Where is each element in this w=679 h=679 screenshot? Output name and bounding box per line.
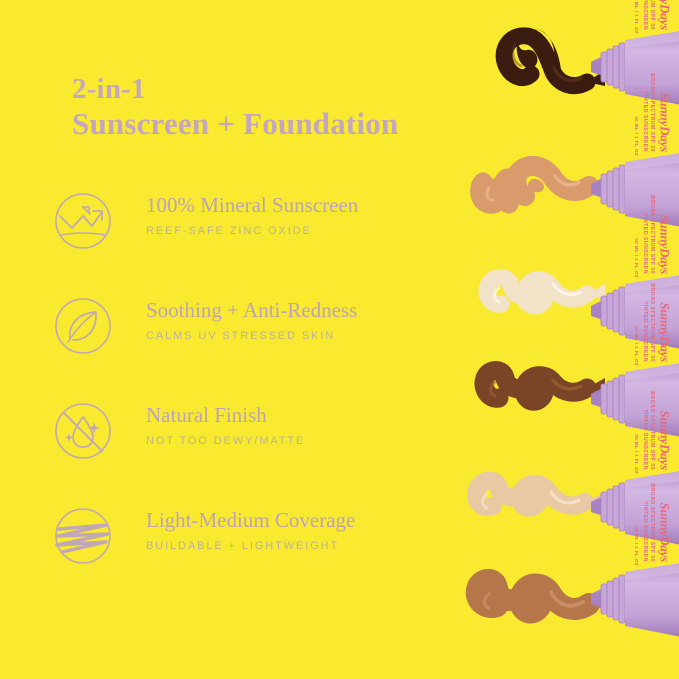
product-tube (589, 548, 679, 652)
product-unit-warm-caramel: SunnyDays BROAD SPECTRUM SPF 30 TINTED S… (455, 540, 679, 658)
feature-item-natural-finish: Natural Finish NOT TOO DEWY/MATTE (48, 396, 468, 501)
product-tube (589, 16, 679, 120)
feature-text-block: Natural Finish NOT TOO DEWY/MATTE (146, 402, 476, 449)
shade-swatch-espresso (455, 8, 605, 126)
feature-item-mineral-sunscreen: 100% Mineral Sunscreen REEF-SAFE ZINC OX… (48, 186, 468, 291)
feature-title: Light-Medium Coverage (146, 507, 476, 533)
headline-line-2: Sunscreen + Foundation (72, 106, 492, 143)
feature-title: Natural Finish (146, 402, 476, 428)
shade-swatch-warm-caramel (455, 540, 605, 658)
leaf-icon (52, 295, 114, 357)
product-unit-deep-brown: SunnyDays BROAD SPECTRUM SPF 30 TINTED S… (455, 340, 679, 458)
product-tube (589, 138, 679, 242)
uv-deflect-icon (52, 190, 114, 252)
feature-list: 100% Mineral Sunscreen REEF-SAFE ZINC OX… (48, 186, 468, 606)
shade-swatch-medium-tan (455, 130, 605, 248)
headline-line-1: 2-in-1 (72, 72, 492, 106)
feature-text-block: Light-Medium Coverage BUILDABLE + LIGHTW… (146, 507, 476, 554)
coverage-swatch-icon (52, 505, 114, 567)
product-unit-espresso: SunnyDays BROAD SPECTRUM SPF 30 TINTED S… (455, 8, 679, 126)
feature-item-soothing: Soothing + Anti-Redness CALMS UV STRESSE… (48, 291, 468, 396)
feature-text-block: Soothing + Anti-Redness CALMS UV STRESSE… (146, 297, 476, 344)
product-tube (589, 348, 679, 452)
product-tube-column: SunnyDays BROAD SPECTRUM SPF 30 TINTED S… (455, 0, 679, 679)
feature-item-coverage: Light-Medium Coverage BUILDABLE + LIGHTW… (48, 501, 468, 606)
feature-subtitle: CALMS UV STRESSED SKIN (146, 329, 476, 343)
product-marketing-image: 2-in-1 Sunscreen + Foundation 100% Miner… (0, 0, 679, 679)
shade-swatch-deep-brown (455, 340, 605, 458)
feature-subtitle: REEF-SAFE ZINC OXIDE (146, 224, 476, 238)
headline-block: 2-in-1 Sunscreen + Foundation (72, 72, 492, 143)
feature-subtitle: NOT TOO DEWY/MATTE (146, 434, 476, 448)
feature-subtitle: BUILDABLE + LIGHTWEIGHT (146, 539, 476, 553)
product-unit-medium-tan: SunnyDays BROAD SPECTRUM SPF 30 TINTED S… (455, 130, 679, 248)
feature-title: 100% Mineral Sunscreen (146, 192, 476, 218)
feature-text-block: 100% Mineral Sunscreen REEF-SAFE ZINC OX… (146, 192, 476, 239)
feature-title: Soothing + Anti-Redness (146, 297, 476, 323)
no-dewy-droplet-icon (52, 400, 114, 462)
